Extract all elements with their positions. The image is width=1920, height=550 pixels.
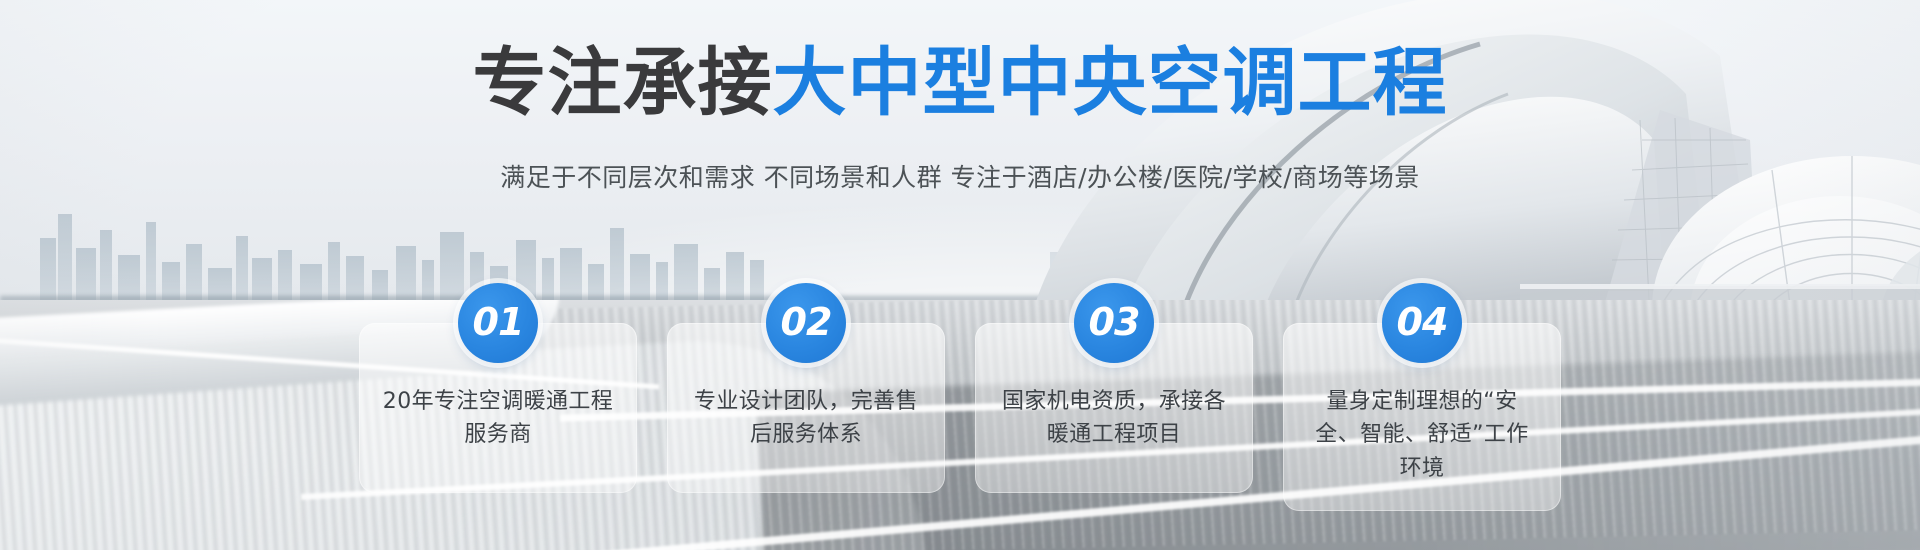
- feature-number-badge: 02: [766, 283, 846, 363]
- feature-card-list: 01 20年专注空调暖通工程服务商 02 专业设计团队，完善售后服务体系 03: [0, 283, 1920, 511]
- feature-number: 04: [1397, 300, 1448, 344]
- feature-text: 量身定制理想的“安全、智能、舒适”工作环境: [1305, 385, 1539, 485]
- feature-card[interactable]: 01 20年专注空调暖通工程服务商: [359, 283, 637, 493]
- feature-text: 专业设计团队，完善售后服务体系: [689, 385, 923, 452]
- title-dark-text: 专注承接: [473, 40, 773, 126]
- feature-number: 03: [1089, 300, 1140, 344]
- feature-text: 20年专注空调暖通工程服务商: [381, 385, 615, 452]
- feature-card[interactable]: 02 专业设计团队，完善售后服务体系: [667, 283, 945, 493]
- banner-content: 专注承接大中型中央空调工程 满足于不同层次和需求 不同场景和人群 专注于酒店/办…: [0, 0, 1920, 550]
- feature-number: 01: [473, 300, 524, 344]
- title-blue-text: 大中型中央空调工程: [773, 40, 1448, 126]
- hero-banner: 专注承接大中型中央空调工程 满足于不同层次和需求 不同场景和人群 专注于酒店/办…: [0, 0, 1920, 550]
- feature-card[interactable]: 04 量身定制理想的“安全、智能、舒适”工作环境: [1283, 283, 1561, 511]
- feature-number-badge: 03: [1074, 283, 1154, 363]
- banner-title: 专注承接大中型中央空调工程: [0, 46, 1920, 120]
- banner-subtitle: 满足于不同层次和需求 不同场景和人群 专注于酒店/办公楼/医院/学校/商场等场景: [0, 158, 1920, 194]
- feature-number: 02: [781, 300, 832, 344]
- feature-card[interactable]: 03 国家机电资质，承接各暖通工程项目: [975, 283, 1253, 493]
- feature-text: 国家机电资质，承接各暖通工程项目: [997, 385, 1231, 452]
- feature-number-badge: 01: [458, 283, 538, 363]
- feature-number-badge: 04: [1382, 283, 1462, 363]
